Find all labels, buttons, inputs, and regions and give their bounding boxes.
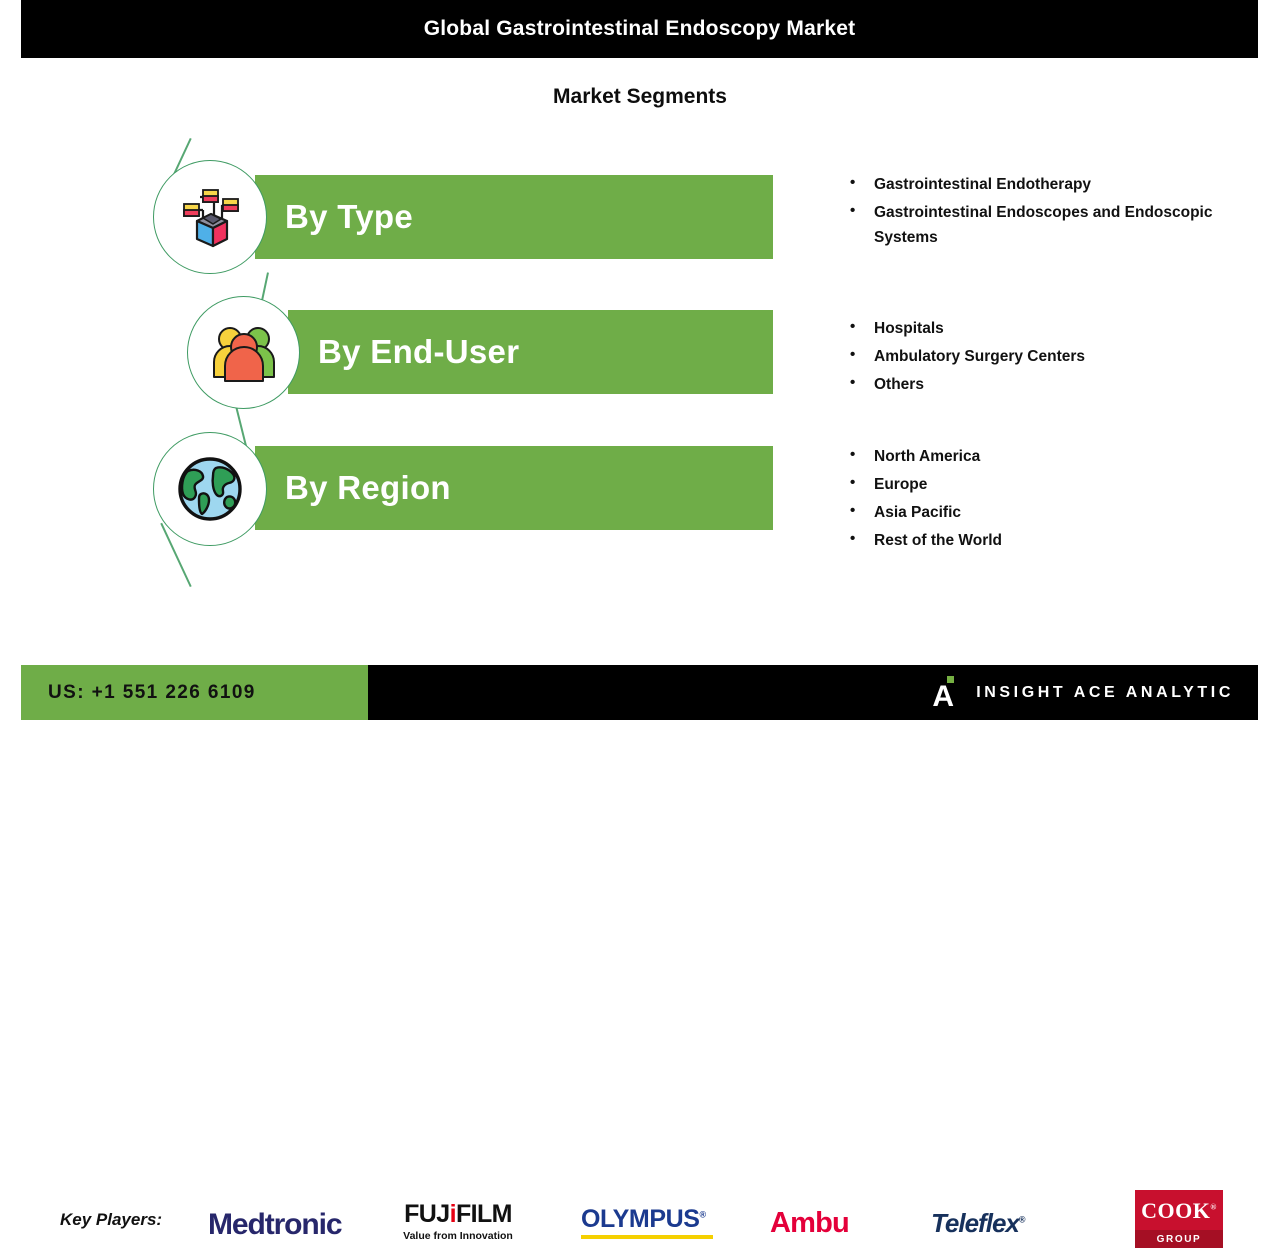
list-item: Others xyxy=(840,372,1260,397)
segment-bar-by-region[interactable]: By Region xyxy=(255,446,773,530)
segment-icon-circle-by-type xyxy=(153,160,267,274)
segment-bar-by-end-user[interactable]: By End-User xyxy=(288,310,773,394)
logo-medtronic: Medtronic xyxy=(208,1208,341,1242)
logo-fujifilm-tagline: Value from Innovation xyxy=(398,1230,518,1242)
logo-olympus: OLYMPUS® xyxy=(581,1207,713,1239)
logo-cook-subtext: GROUP xyxy=(1135,1230,1223,1248)
logo-medtronic-text: Medtronic xyxy=(208,1208,341,1242)
footer-phone: US: +1 551 226 6109 xyxy=(48,682,256,704)
globe-icon xyxy=(175,454,245,524)
bullet-list-by-region: North America Europe Asia Pacific Rest o… xyxy=(840,444,1260,556)
list-item: Rest of the World xyxy=(840,528,1260,553)
logo-fujifilm-text: FUJiFILM xyxy=(398,1202,518,1227)
logo-cook-group: COOK® GROUP xyxy=(1135,1190,1223,1248)
footer-contact-block: US: +1 551 226 6109 xyxy=(21,665,368,720)
logo-cook-text: COOK® xyxy=(1135,1198,1223,1224)
brand-name: INSIGHT ACE ANALYTIC xyxy=(976,684,1234,702)
list-item: North America xyxy=(840,444,1260,469)
section-heading: Market Segments xyxy=(0,85,1280,109)
segment-label-by-region: By Region xyxy=(285,469,451,507)
list-item: Asia Pacific xyxy=(840,500,1260,525)
page-title: Global Gastrointestinal Endoscopy Market xyxy=(424,17,856,41)
list-item: Europe xyxy=(840,472,1260,497)
list-item: Ambulatory Surgery Centers xyxy=(840,344,1260,369)
list-item: Hospitals xyxy=(840,316,1260,341)
bullet-list-by-type: Gastrointestinal Endotherapy Gastrointes… xyxy=(840,172,1260,253)
infographic-canvas: Global Gastrointestinal Endoscopy Market… xyxy=(0,0,1280,720)
logo-fujifilm: FUJiFILM Value from Innovation xyxy=(398,1202,518,1242)
segment-icon-circle-by-region xyxy=(153,432,267,546)
bullet-list-by-end-user: Hospitals Ambulatory Surgery Centers Oth… xyxy=(840,316,1260,400)
insight-ace-a-logo-icon: A xyxy=(928,676,958,710)
logo-olympus-underline xyxy=(581,1235,713,1239)
segment-label-by-end-user: By End-User xyxy=(318,333,519,371)
footer-brand-block: A INSIGHT ACE ANALYTIC xyxy=(368,665,1258,720)
logo-ambu: Ambu xyxy=(770,1207,849,1240)
logo-teleflex: Teleflex® xyxy=(931,1208,1025,1239)
segment-bar-by-type[interactable]: By Type xyxy=(255,175,773,259)
product-cube-network-icon xyxy=(173,180,247,254)
segment-label-by-type: By Type xyxy=(285,198,413,236)
header-bar: Global Gastrointestinal Endoscopy Market xyxy=(21,0,1258,58)
list-item: Gastrointestinal Endotherapy xyxy=(840,172,1260,197)
people-group-icon xyxy=(207,321,281,385)
logo-teleflex-text: Teleflex® xyxy=(931,1208,1025,1239)
brand-lockup: A INSIGHT ACE ANALYTIC xyxy=(928,676,1234,710)
logo-olympus-text: OLYMPUS® xyxy=(581,1207,713,1232)
key-players-strip: Key Players: Medtronic FUJiFILM Value fr… xyxy=(0,590,1280,665)
brand-mark-letter: A xyxy=(928,683,958,710)
logo-ambu-text: Ambu xyxy=(770,1207,849,1240)
list-item: Gastrointestinal Endoscopes and Endoscop… xyxy=(840,200,1260,250)
key-players-label: Key Players: xyxy=(60,1210,162,1230)
segment-icon-circle-by-end-user xyxy=(187,296,300,409)
